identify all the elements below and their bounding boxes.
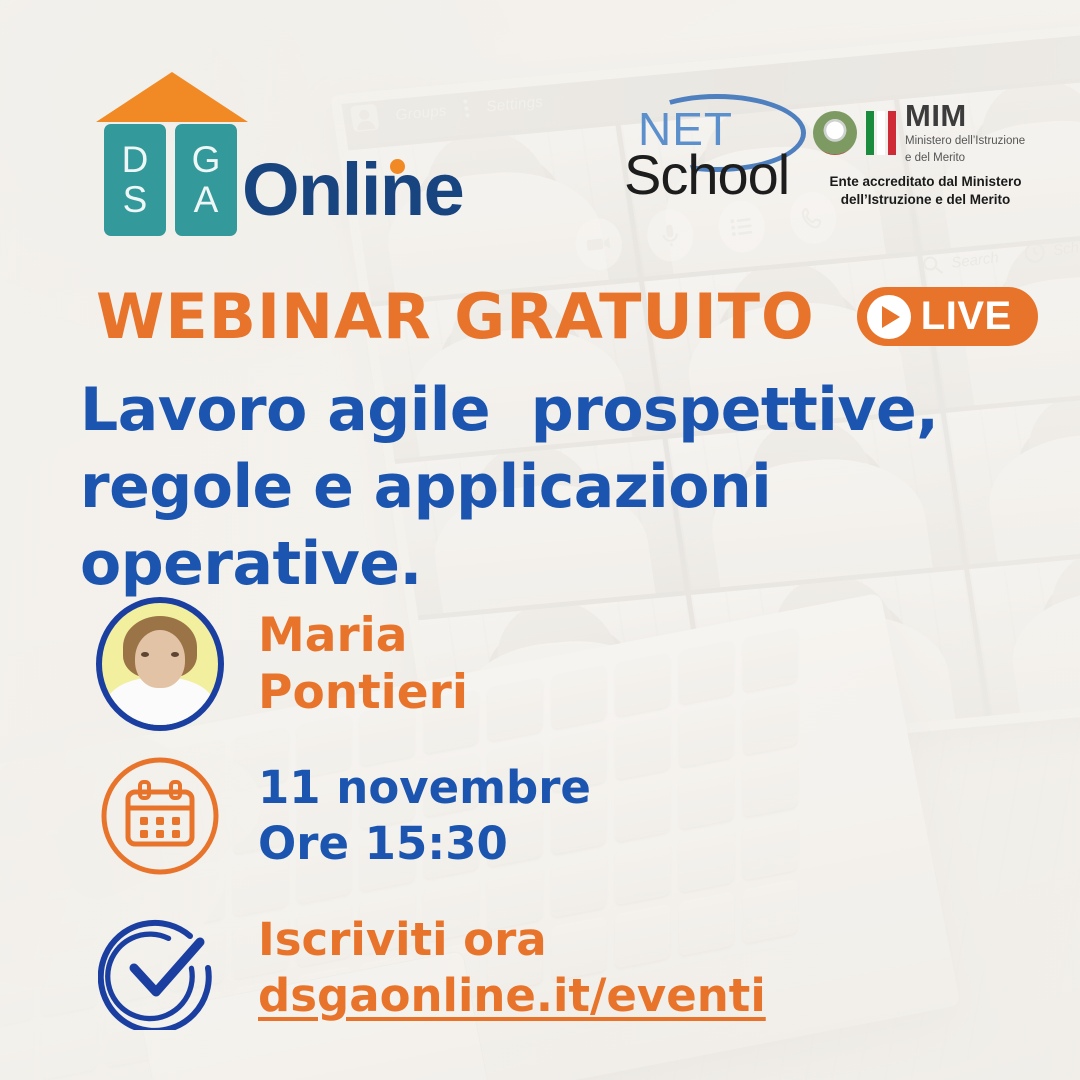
webinar-poster: Groups Settings <box>0 0 1080 1080</box>
title-line-2: regole e applicazioni <box>80 449 1020 526</box>
live-badge: LIVE <box>857 287 1038 346</box>
poster-content: D S G A Online NET School <box>0 0 1080 1080</box>
check-circle-icon <box>98 906 222 1030</box>
title-line-1: Lavoro agile prospettive, <box>80 372 1020 449</box>
mim-logo: ★ MIM Ministero dell’Istruzione e del Me… <box>813 100 1038 209</box>
avatar <box>96 597 224 731</box>
info-rows: Maria Pontieri <box>96 600 996 1056</box>
event-time: Ore 15:30 <box>258 816 591 872</box>
letter-a: A <box>194 181 219 219</box>
schedule-text-block: 11 novembre Ore 15:30 <box>258 760 591 873</box>
roof-shape-icon <box>96 72 248 122</box>
webinar-eyebrow: WEBINAR GRATUITO <box>96 280 815 353</box>
speaker-last-name: Pontieri <box>258 664 468 721</box>
webinar-header-row: WEBINAR GRATUITO LIVE <box>96 280 1016 353</box>
page-title: Lavoro agile prospettive, regole e appli… <box>80 372 1020 602</box>
speaker-avatar-wrapper <box>96 600 224 728</box>
accreditation-line1: Ente accreditato dal Ministero <box>813 173 1038 191</box>
mim-subtitle-line1: Ministero dell’Istruzione <box>905 134 1025 148</box>
letter-g: G <box>192 141 221 179</box>
live-badge-label: LIVE <box>921 294 1012 339</box>
schedule-row: 11 novembre Ore 15:30 <box>96 752 996 880</box>
letter-s: S <box>123 181 148 219</box>
calendar-icon <box>98 754 222 878</box>
speaker-row: Maria Pontieri <box>96 600 996 728</box>
mim-subtitle-line2: e del Merito <box>905 151 1025 165</box>
partner-logos: NET School ★ MIM Ministero dell’Istruzio… <box>630 100 1038 209</box>
logo-word-text: Online <box>242 148 463 231</box>
event-date: 11 novembre <box>258 760 591 816</box>
letter-block-right: G A <box>175 124 237 236</box>
cta-text-block: Iscriviti ora dsgaonline.it/eventi <box>258 912 766 1025</box>
italian-republic-emblem-icon: ★ <box>813 111 857 155</box>
dsga-letter-blocks: D S G A <box>104 124 237 236</box>
speaker-first-name: Maria <box>258 607 468 664</box>
calendar-icon-wrapper <box>96 752 224 880</box>
title-line-3: operative. <box>80 526 1020 603</box>
cta-link[interactable]: dsgaonline.it/eventi <box>258 968 766 1024</box>
accreditation-line2: dell’Istruzione e del Merito <box>813 191 1038 209</box>
speaker-name-block: Maria Pontieri <box>258 607 468 722</box>
cta-row[interactable]: Iscriviti ora dsgaonline.it/eventi <box>96 904 996 1032</box>
dsga-house-mark: D S G A <box>96 72 248 236</box>
logo-wordmark: Online <box>242 147 463 232</box>
letter-block-left: D S <box>104 124 166 236</box>
orange-dot-icon <box>390 159 405 174</box>
mim-acronym: MIM <box>905 100 1025 131</box>
dsga-online-logo: D S G A Online <box>96 72 463 236</box>
netschool-logo: NET School <box>630 100 795 200</box>
check-icon-wrapper <box>96 904 224 1032</box>
mim-logo-top: ★ MIM Ministero dell’Istruzione e del Me… <box>813 100 1038 166</box>
accreditation-text: Ente accreditato dal Ministero dell’Istr… <box>813 173 1038 209</box>
mim-text-block: MIM Ministero dell’Istruzione e del Meri… <box>905 100 1025 166</box>
cta-label: Iscriviti ora <box>258 912 766 968</box>
netschool-school-text: School <box>624 142 789 207</box>
play-icon <box>867 295 911 339</box>
italian-flag-bars-icon <box>866 111 896 155</box>
letter-d: D <box>122 141 149 179</box>
